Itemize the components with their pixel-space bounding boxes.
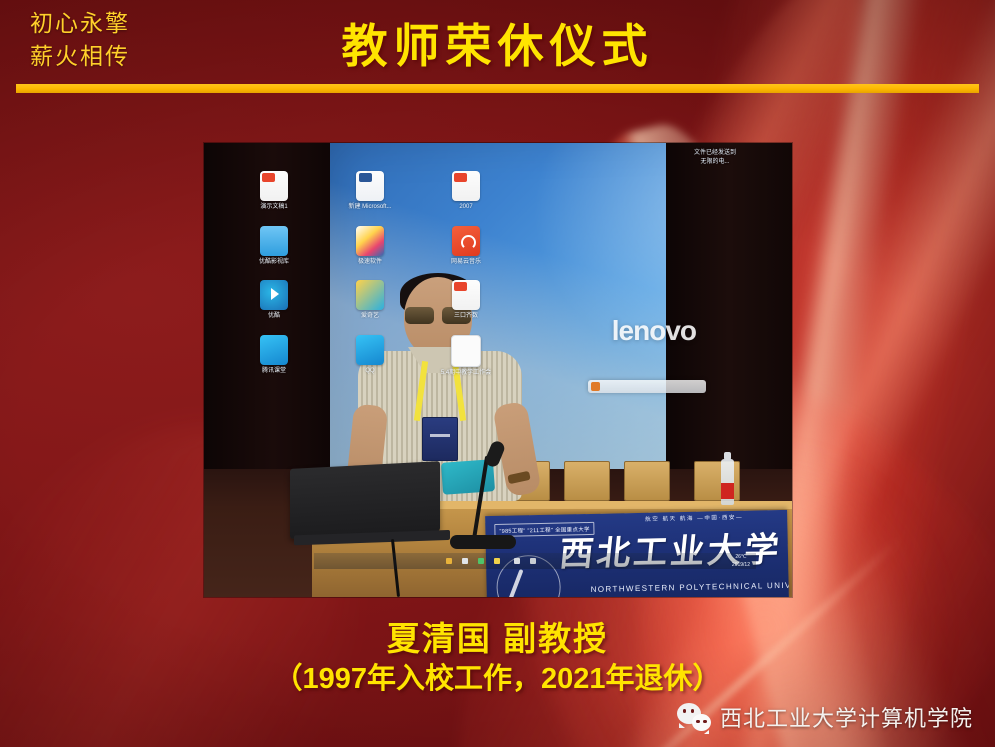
desktop-icon: 三口齐数 (418, 280, 514, 321)
pdf-file-icon (452, 171, 480, 201)
id-badge (422, 417, 458, 461)
water-bottle (721, 459, 734, 505)
desktop-icon-label: 优酷影视库 (226, 259, 322, 267)
desktop-icon: 2007 (418, 171, 514, 212)
gold-divider-rule (16, 84, 979, 93)
chat-app-icon (356, 335, 384, 365)
desktop-icon-label: 2007 (418, 204, 514, 212)
taskbar-item (494, 558, 500, 564)
microphone-base (450, 535, 516, 549)
screen-note-line-2: 无限的电... (694, 158, 736, 167)
chair (564, 461, 610, 501)
desktop-icon: 新建 Microsoft... (322, 171, 418, 212)
desktop-icon: 极速软件 (322, 226, 418, 267)
desktop-icon-label: 新建 Microsoft... (322, 204, 418, 212)
desktop-icon: 爱奇艺 (322, 280, 418, 321)
desktop-icon-label: 腾讯课堂 (226, 368, 322, 376)
screen-notification: 文件已经发送到 无限的电... (694, 149, 736, 167)
taskbar-clock: 26℃ 2019/12 (732, 554, 750, 569)
taskbar-item (462, 558, 468, 564)
triangle-app-icon (356, 280, 384, 310)
folder-icon (260, 226, 288, 256)
doc-file-icon (451, 335, 481, 367)
taskbar-item (478, 558, 484, 564)
desktop-icon-label: 演示文稿1 (226, 204, 322, 212)
event-photo: 文件已经发送到 无限的电... 演示文稿1 新建 Microsoft... 20… (204, 143, 792, 597)
chat-app-icon (260, 335, 288, 365)
taskbar-item (514, 558, 520, 564)
music-app-icon (452, 226, 480, 256)
desktop-icon: 优酷影视库 (226, 226, 322, 267)
desktop-icon: QQ (322, 335, 418, 378)
word-file-icon (356, 171, 384, 201)
desktop-icon-label: QQ (322, 368, 418, 376)
wechat-eye (696, 720, 700, 724)
desktop-icon: 5.4期中教学工作会 (418, 335, 514, 378)
taskbar-item (530, 558, 536, 564)
wechat-eye (703, 720, 707, 724)
desktop-icon: 优酷 (226, 280, 322, 321)
desktop-icon-label: 5.4期中教学工作会 (418, 370, 514, 378)
watermark: 西北工业大学计算机学院 (677, 701, 973, 733)
clock-line-2: 2019/12 (732, 562, 750, 568)
color-app-icon (356, 226, 384, 256)
chair (624, 461, 670, 501)
desktop-icon: 网易云音乐 (418, 226, 514, 267)
laptop (290, 461, 440, 539)
pdf-file-icon (260, 171, 288, 201)
banner-university-name-en: NORTHWESTERN POLYTECHNICAL UNIVERSITY (591, 580, 789, 594)
watermark-text: 西北工业大学计算机学院 (720, 701, 973, 733)
slide-title: 教师荣休仪式 (0, 10, 995, 76)
taskbar: 26℃ 2019/12 (314, 553, 756, 569)
wechat-bubble-small (692, 714, 711, 731)
desktop-icon-label: 优酷 (226, 313, 322, 321)
banner-tagline: 航空 航天 航海 —中国·西安— (645, 513, 743, 523)
taskbar-item (446, 558, 452, 564)
clock-line-1: 26℃ (735, 554, 746, 560)
lenovo-watermark: lenovo (612, 315, 696, 347)
desktop-icon-label: 爱奇艺 (322, 313, 418, 321)
desktop-icon-label: 极速软件 (322, 259, 418, 267)
taskbar-popup (588, 380, 706, 393)
caption-name: 夏清国 副教授 (0, 612, 995, 660)
desktop-icon-label: 三口齐数 (418, 313, 514, 321)
desktop-icon-label: 网易云音乐 (418, 259, 514, 267)
pdf-file-icon (452, 280, 480, 310)
player-app-icon (260, 280, 288, 310)
caption-detail: （1997年入校工作，2021年退休） (0, 655, 995, 697)
presentation-slide: 初心永擎 薪火相传 教师荣休仪式 文件已经发送到 无限的电... 演示文稿1 新… (0, 0, 995, 747)
desktop-icon: 演示文稿1 (226, 171, 322, 212)
desktop-icon-grid: 演示文稿1 新建 Microsoft... 2007 优酷影视库 极速软件 网易… (226, 171, 526, 377)
screen-note-line-1: 文件已经发送到 (694, 149, 736, 158)
wechat-icon (677, 703, 711, 731)
desktop-icon: 腾讯课堂 (226, 335, 322, 378)
